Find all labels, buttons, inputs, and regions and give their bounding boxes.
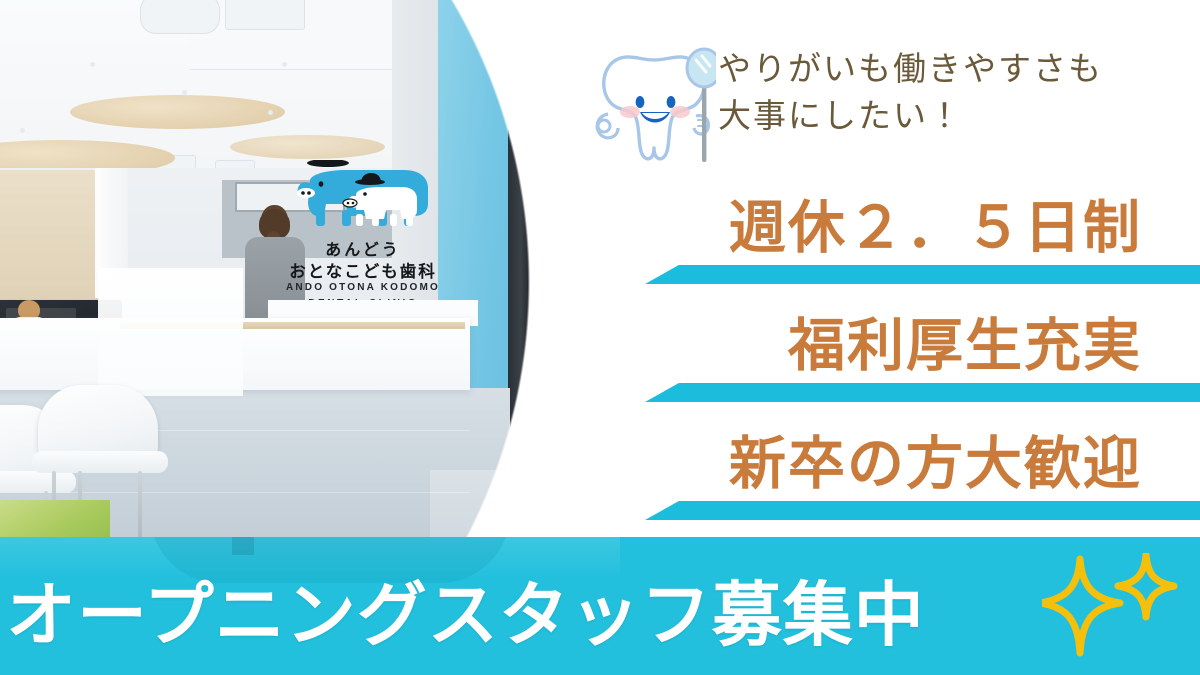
- chair-leg: [138, 471, 142, 543]
- air-conditioner-vent: [225, 0, 305, 30]
- benefit-underline-bar: [645, 501, 1200, 520]
- sparkle-icons: [1042, 553, 1192, 663]
- tagline-line-2: 大事にしたい！: [718, 93, 1188, 140]
- benefit-label: 新卒の方大歓迎: [729, 418, 1142, 500]
- logo-name-ja-line2: おとなこども歯科: [260, 258, 466, 282]
- tagline: やりがいも働きやすさも 大事にしたい！: [718, 46, 1188, 140]
- tagline-line-1: やりがいも働きやすさも: [718, 46, 1188, 93]
- recruitment-poster: あんどう おとなこども歯科 ANDO OTONA KODOMO DENTAL C…: [0, 0, 1200, 675]
- logo-name-en-line1: ANDO OTONA KODOMO: [258, 282, 468, 293]
- benefit-underline-bar: [645, 383, 1200, 402]
- dark-door-frame: [508, 18, 530, 513]
- ceiling-downlight: [90, 62, 95, 67]
- banner-photo-bleed-column: [232, 537, 254, 555]
- cow-mascot-icon: [286, 160, 438, 232]
- ceiling-downlight: [282, 62, 287, 67]
- ceiling-downlight: [20, 128, 25, 133]
- chair-back: [38, 385, 158, 459]
- clinic-interior-photo: あんどう おとなこども歯科 ANDO OTONA KODOMO DENTAL C…: [0, 0, 620, 600]
- banner-headline: オープニングスタッフ募集中: [6, 559, 1101, 660]
- benefit-item-weekly-holiday: 週休２．５日制: [640, 178, 1200, 296]
- air-conditioner-unit: [140, 0, 220, 34]
- ceiling-downlight: [268, 110, 273, 115]
- clinic-logo: あんどう おとなこども歯科 ANDO OTONA KODOMO DENTAL C…: [268, 160, 458, 318]
- recruitment-banner: オープニングスタッフ募集中: [0, 537, 1200, 675]
- benefit-label: 福利厚生充実: [788, 300, 1142, 382]
- ceiling-oval-panel: [70, 95, 285, 129]
- chair-seat: [32, 451, 168, 473]
- ceiling-downlight: [182, 90, 187, 95]
- glass-partition: [98, 268, 243, 396]
- benefit-list: 週休２．５日制 福利厚生充実 新卒の方大歓迎: [640, 178, 1200, 532]
- benefit-item-welfare-benefits: 福利厚生充実: [640, 296, 1200, 414]
- logo-name-ja-line1: あんどう: [268, 236, 458, 260]
- benefit-underline-bar: [645, 265, 1200, 284]
- benefit-label: 週休２．５日制: [729, 182, 1142, 264]
- tooth-mascot-icon: [592, 42, 716, 168]
- benefit-item-new-graduates: 新卒の方大歓迎: [640, 414, 1200, 532]
- ceiling-oval-panel: [230, 135, 385, 159]
